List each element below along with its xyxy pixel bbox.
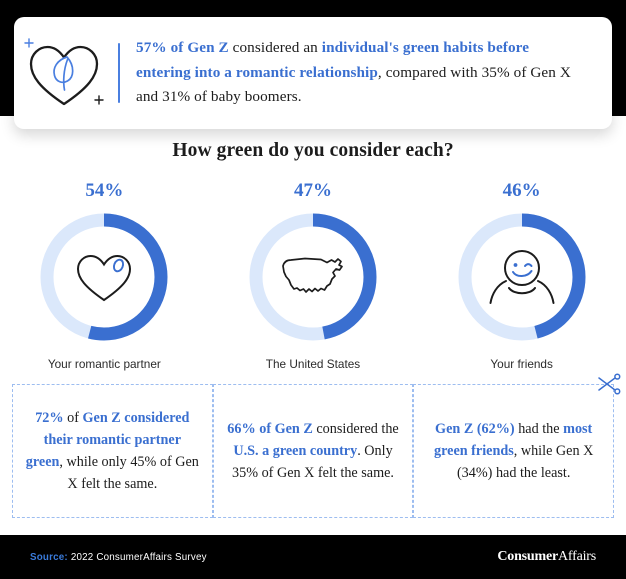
donut-chart-friends (454, 209, 590, 345)
hero-text: 57% of Gen Z considered an individual's … (136, 36, 612, 110)
stat-panel-text: 66% of Gen Z considered the U.S. a green… (226, 418, 401, 484)
infographic-root: 57% of Gen Z considered an individual's … (0, 0, 626, 579)
donut-chart-row: 54% Your romantic partner 47% (0, 180, 626, 371)
donut-cell-united-states: 47% The United States (213, 180, 413, 371)
logo-bold-part: Consumer (497, 549, 558, 564)
donut-chart-romantic-partner (36, 209, 172, 345)
stat-panel-united-states: 66% of Gen Z considered the U.S. a green… (213, 384, 414, 518)
footer-bar: Source: 2022 ConsumerAffairs Survey Cons… (0, 535, 626, 579)
donut-percent-label: 47% (294, 180, 332, 202)
section-title: How green do you consider each? (0, 140, 626, 162)
donut-percent-label: 54% (85, 180, 123, 202)
consumeraffairs-logo: ConsumerAffairs (497, 549, 596, 565)
donut-label: Your friends (490, 357, 553, 371)
footer-source-label: Source: (30, 552, 68, 563)
footer-source-value: 2022 ConsumerAffairs Survey (68, 552, 207, 563)
donut-percent-label: 46% (503, 180, 541, 202)
hero-callout-card: 57% of Gen Z considered an individual's … (14, 17, 612, 129)
donut-label: Your romantic partner (48, 357, 161, 371)
footer-source: Source: 2022 ConsumerAffairs Survey (30, 552, 207, 563)
donut-cell-romantic-partner: 54% Your romantic partner (4, 180, 204, 371)
logo-light-part: Affairs (558, 549, 596, 564)
donut-label: The United States (266, 357, 360, 371)
hero-vertical-divider (118, 43, 120, 103)
stat-panel-romantic-partner: 72% of Gen Z considered their romantic p… (12, 384, 213, 518)
donut-chart-united-states (245, 209, 381, 345)
stat-panel-row: 72% of Gen Z considered their romantic p… (12, 384, 614, 518)
stat-panel-friends: Gen Z (62%) had the most green friends, … (413, 384, 614, 518)
heart-with-leaf-icon (14, 27, 118, 119)
stat-panel-text: 72% of Gen Z considered their romantic p… (25, 407, 200, 495)
scissors-icon (596, 373, 622, 400)
donut-cell-friends: 46% (422, 180, 622, 371)
stat-panel-text: Gen Z (62%) had the most green friends, … (426, 418, 601, 484)
